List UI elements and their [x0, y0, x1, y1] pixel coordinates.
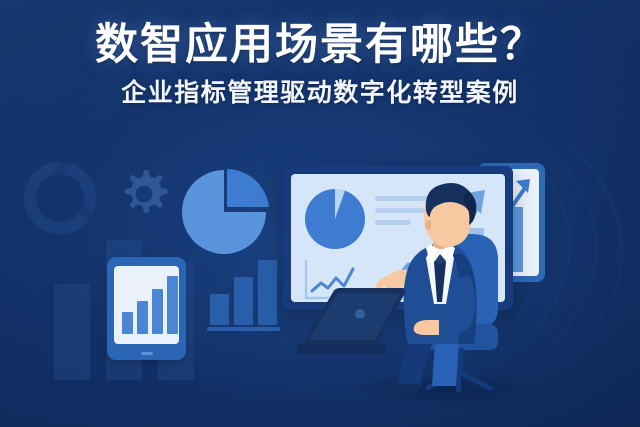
gear-icon — [116, 166, 172, 222]
pie-chart-decor — [178, 166, 270, 258]
tablet-device — [107, 257, 186, 360]
tablet-home-button — [141, 352, 153, 355]
poster-canvas: 数智应用场景有哪些？ 企业指标管理驱动数字化转型案例 — [0, 0, 640, 427]
poster-header: 数智应用场景有哪些？ 企业指标管理驱动数字化转型案例 — [0, 22, 640, 108]
tablet-screen — [114, 266, 179, 344]
donut-chart-ring — [24, 162, 96, 234]
laptop — [297, 286, 417, 358]
page-title: 数智应用场景有哪些？ — [0, 22, 640, 68]
page-subtitle: 企业指标管理驱动数字化转型案例 — [0, 80, 640, 108]
